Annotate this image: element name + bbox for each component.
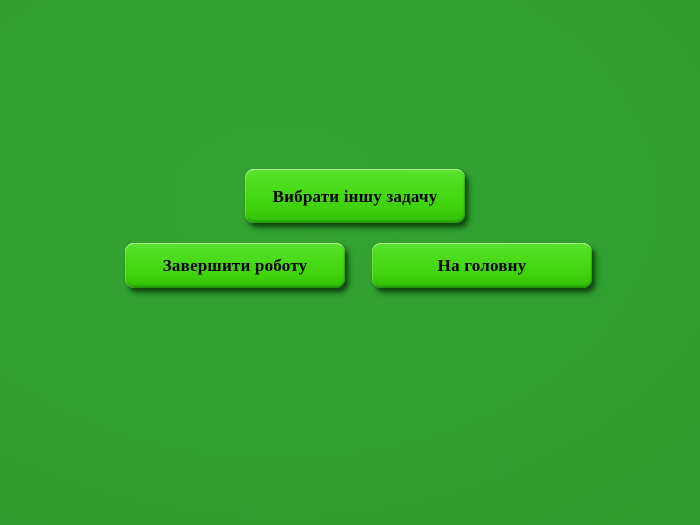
go-home-button-label: На головну [382, 255, 582, 276]
go-home-button[interactable]: На головну [372, 243, 592, 288]
finish-work-button[interactable]: Завершити роботу [125, 243, 345, 288]
choose-another-task-button-label: Вибрати іншу задачу [255, 186, 455, 207]
app-screen: Вибрати іншу задачу Завершити роботу На … [0, 0, 700, 525]
choose-another-task-button[interactable]: Вибрати іншу задачу [245, 169, 465, 223]
finish-work-button-label: Завершити роботу [135, 255, 335, 276]
